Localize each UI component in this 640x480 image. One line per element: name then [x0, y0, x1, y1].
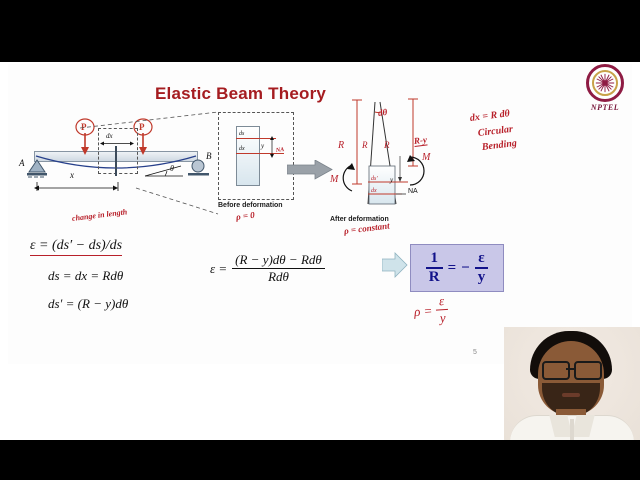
label-support-a: A: [19, 158, 25, 168]
before-caption: Before deformation: [218, 202, 302, 209]
equation-strain-expanded: ε = (R − y)dθ − Rdθ Rdθ: [210, 252, 325, 285]
after-label-na: NA: [408, 188, 418, 195]
box-lhs-fraction: 1 R: [426, 250, 443, 286]
after-label-y: y: [390, 176, 393, 184]
equation-ds: ds = dx = Rdθ: [48, 268, 123, 284]
eq-expanded-denominator: Rdθ: [232, 269, 325, 285]
after-label-R-mid: R: [362, 140, 368, 150]
after-deformation-diagram: R R R dθ R-y ds' dx y NA M M After defor…: [330, 96, 460, 224]
after-label-r-minus-y: R-y: [413, 134, 427, 147]
after-label-R-right: R: [384, 140, 390, 150]
presenter-glasses-bridge: [566, 368, 574, 370]
nptel-logo: NPTEL: [578, 62, 632, 118]
curvature-result-box: 1 R = − ε y: [410, 244, 504, 292]
presenter-video[interactable]: [504, 327, 640, 440]
result-arrow-icon: [382, 252, 408, 278]
handwritten-result: ρ = ε y: [413, 293, 449, 328]
eq-expanded-numerator: (R − y)dθ − Rdθ: [232, 252, 325, 269]
page-title: Elastic Beam Theory: [155, 84, 355, 104]
presenter-mouth: [562, 393, 580, 397]
hand-result-lhs: ρ =: [413, 302, 432, 319]
before-y-dimension: [268, 136, 276, 158]
eq-strain-rhs: (ds′ − ds)/ds: [52, 238, 122, 253]
after-label-dtheta: dθ: [377, 107, 387, 118]
box-equals: =: [448, 260, 457, 277]
box-lhs-num: 1: [426, 250, 443, 269]
eq-expanded-fraction: (R − y)dθ − Rdθ Rdθ: [232, 252, 325, 285]
equation-strain-definition: ε = (ds′ − ds)/ds: [30, 238, 122, 256]
hand-result-fraction: ε y: [435, 293, 449, 327]
presenter-placket: [570, 419, 574, 440]
pin-support: [26, 159, 48, 179]
after-label-M-right: M: [422, 152, 430, 163]
logo-star-icon: [594, 72, 616, 94]
logo-label: NPTEL: [578, 103, 632, 112]
video-frame: Elastic Beam Theory NPTEL: [0, 0, 640, 480]
equation-ds-prime: ds′ = (R − y)dθ: [48, 296, 128, 312]
presenter-glasses-left: [542, 361, 570, 380]
box-lhs-den: R: [426, 269, 443, 286]
after-label-M-left: M: [330, 174, 338, 185]
before-label-y: y: [261, 142, 264, 150]
transition-arrow-icon: [287, 160, 333, 180]
before-label-ds: ds: [239, 131, 244, 137]
box-rhs-num: ε: [475, 250, 489, 269]
hand-result-den: y: [436, 310, 449, 327]
presenter-glasses-right: [574, 361, 602, 380]
eq-expanded-lhs: ε =: [210, 261, 227, 277]
before-annotation: ρ = 0: [235, 210, 255, 222]
before-label-dx: dx: [239, 146, 245, 152]
hand-result-num: ε: [435, 293, 448, 311]
before-label-na: NA: [276, 147, 285, 154]
after-label-ds-prime: ds': [371, 176, 378, 182]
page-number: 5: [473, 349, 477, 356]
box-minus: −: [461, 260, 470, 277]
after-label-R-left: R: [338, 140, 344, 151]
eq-strain-lhs: ε =: [30, 238, 48, 253]
box-rhs-den: y: [475, 269, 489, 286]
logo-ring-icon: [586, 64, 624, 102]
after-label-dx: dx: [371, 188, 377, 194]
box-rhs-fraction: ε y: [475, 250, 489, 286]
